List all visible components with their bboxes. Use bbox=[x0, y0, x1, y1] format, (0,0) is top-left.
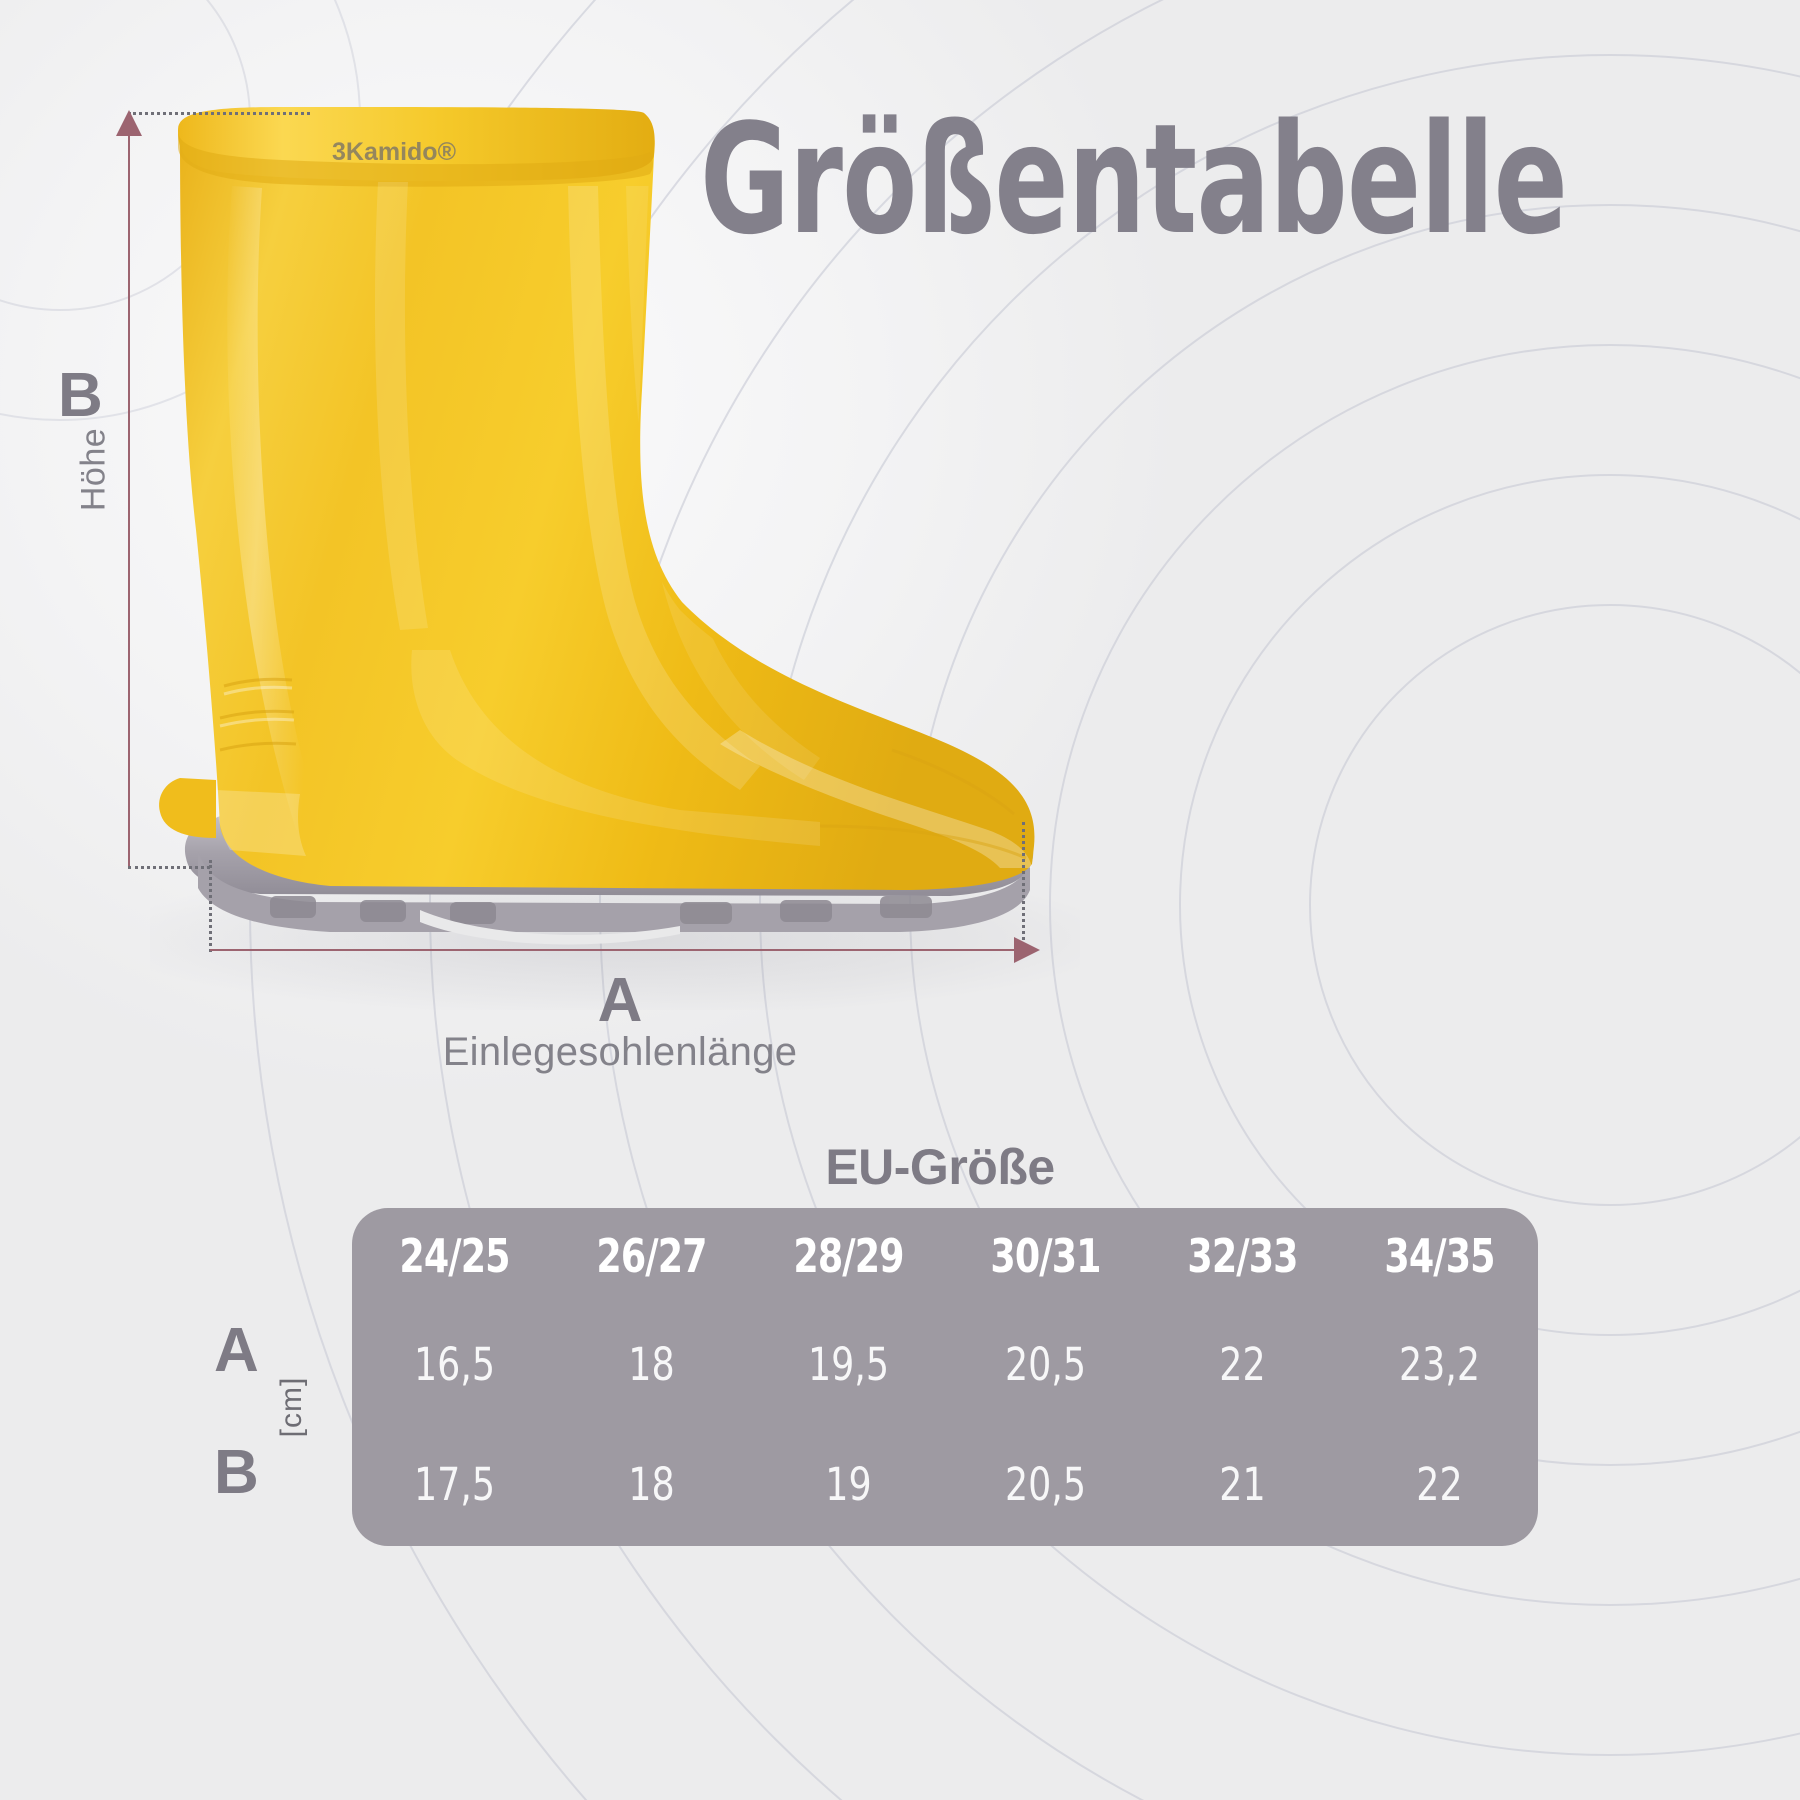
length-name-label: Einlegesohlenlänge bbox=[0, 1030, 1240, 1075]
size-table: 24/25 26/27 28/29 30/31 32/33 34/35 16,5… bbox=[352, 1208, 1538, 1546]
dimension-guide-right bbox=[1022, 822, 1025, 952]
table-cell: 22 bbox=[1351, 1458, 1528, 1511]
height-name-label: Höhe bbox=[75, 370, 114, 570]
brand-mark: 3Kamido® bbox=[332, 138, 457, 166]
table-cell: 20,5 bbox=[957, 1338, 1134, 1391]
table-header-cell: 32/33 bbox=[1156, 1229, 1329, 1283]
table-header-cell: 26/27 bbox=[565, 1229, 738, 1283]
table-cell: 23,2 bbox=[1351, 1338, 1528, 1391]
dimension-guide-top bbox=[128, 112, 310, 115]
table-header-cell: 24/25 bbox=[368, 1229, 541, 1283]
table-cell: 21 bbox=[1154, 1458, 1331, 1511]
table-header-cell: 34/35 bbox=[1353, 1229, 1526, 1283]
unit-label: [cm] bbox=[275, 1347, 309, 1467]
row-label-b: B bbox=[214, 1437, 259, 1508]
table-cell: 20,5 bbox=[957, 1458, 1134, 1511]
table-cell: 19 bbox=[760, 1458, 937, 1511]
dimension-guide-bottom-left bbox=[128, 866, 210, 869]
row-label-a: A bbox=[214, 1315, 259, 1386]
table-cell: 22 bbox=[1154, 1338, 1331, 1391]
size-table-grid: 24/25 26/27 28/29 30/31 32/33 34/35 16,5… bbox=[352, 1208, 1538, 1546]
table-cell: 16,5 bbox=[366, 1338, 543, 1391]
arrow-right-icon bbox=[1014, 937, 1040, 963]
arrow-up-icon bbox=[116, 110, 142, 136]
height-dimension-line bbox=[128, 128, 130, 866]
table-cell: 17,5 bbox=[366, 1458, 543, 1511]
length-letter-label: A bbox=[0, 965, 1240, 1036]
table-cell: 19,5 bbox=[760, 1338, 937, 1391]
table-header-cell: 28/29 bbox=[762, 1229, 935, 1283]
table-caption: EU-Größe bbox=[350, 1138, 1530, 1196]
table-cell: 18 bbox=[563, 1458, 740, 1511]
length-dimension-line bbox=[210, 949, 1022, 951]
table-header-cell: 30/31 bbox=[959, 1229, 1132, 1283]
dimension-guide-left bbox=[209, 860, 212, 952]
table-cell: 18 bbox=[563, 1338, 740, 1391]
page-title: Größentabelle bbox=[700, 104, 1567, 256]
